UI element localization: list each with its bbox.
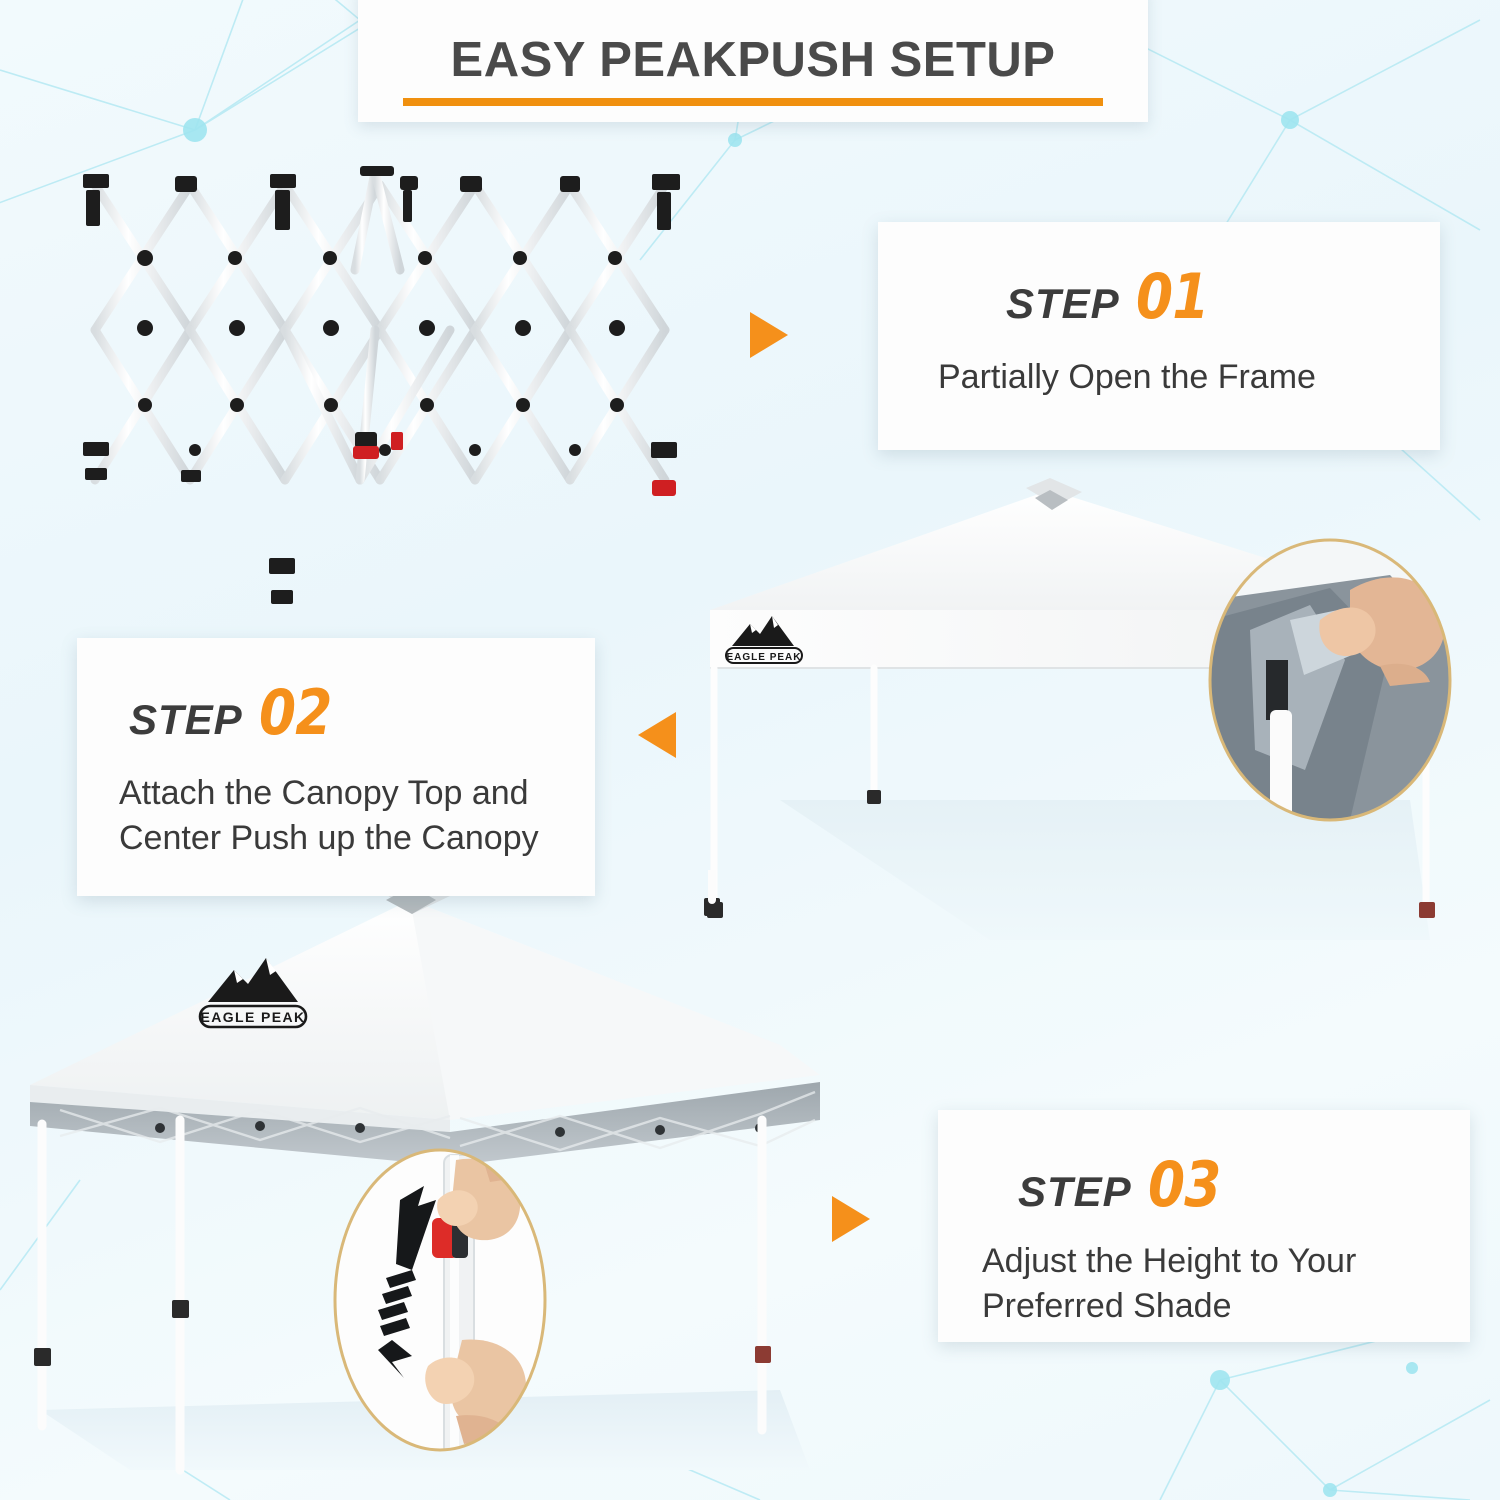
page-title-card: EASY PEAKPUSH SETUP — [358, 0, 1148, 122]
step-card-1: STEP 01 Partially Open the Frame — [878, 222, 1440, 450]
arrow-left-icon-step-2 — [638, 712, 676, 758]
step-3-heading: STEP 03 — [938, 1148, 1470, 1221]
step-3-description: Adjust the Height to Your Preferred Shad… — [938, 1239, 1470, 1329]
step-card-2: STEP 02 Attach the Canopy Top and Center… — [77, 638, 595, 896]
step-1-number: 01 — [1136, 260, 1208, 333]
folded-canopy-frame-photo — [55, 150, 735, 630]
step-3-word: STEP — [1018, 1168, 1132, 1216]
arrow-right-icon-step-1 — [750, 312, 788, 358]
page-title: EASY PEAKPUSH SETUP — [451, 36, 1056, 85]
arrow-right-icon-step-3 — [832, 1196, 870, 1242]
step-1-heading: STEP 01 — [878, 260, 1440, 333]
step-2-word: STEP — [129, 696, 243, 744]
step-2-heading: STEP 02 — [77, 676, 595, 749]
step-1-description: Partially Open the Frame — [878, 355, 1440, 400]
canopy-fully-setup-photo: EAGLE PEAK — [20, 870, 880, 1490]
hand-attaching-canopy-corner-inset — [1210, 540, 1450, 820]
svg-text:EAGLE PEAK: EAGLE PEAK — [200, 1009, 305, 1025]
title-underline-rule — [403, 98, 1103, 106]
step-1-word: STEP — [1006, 280, 1120, 328]
svg-text:EAGLE PEAK: EAGLE PEAK — [726, 652, 801, 663]
step-card-3: STEP 03 Adjust the Height to Your Prefer… — [938, 1110, 1470, 1342]
step-2-description: Attach the Canopy Top and Center Push up… — [77, 771, 595, 861]
step-2-number: 02 — [259, 676, 331, 749]
step-3-number: 03 — [1148, 1148, 1220, 1221]
